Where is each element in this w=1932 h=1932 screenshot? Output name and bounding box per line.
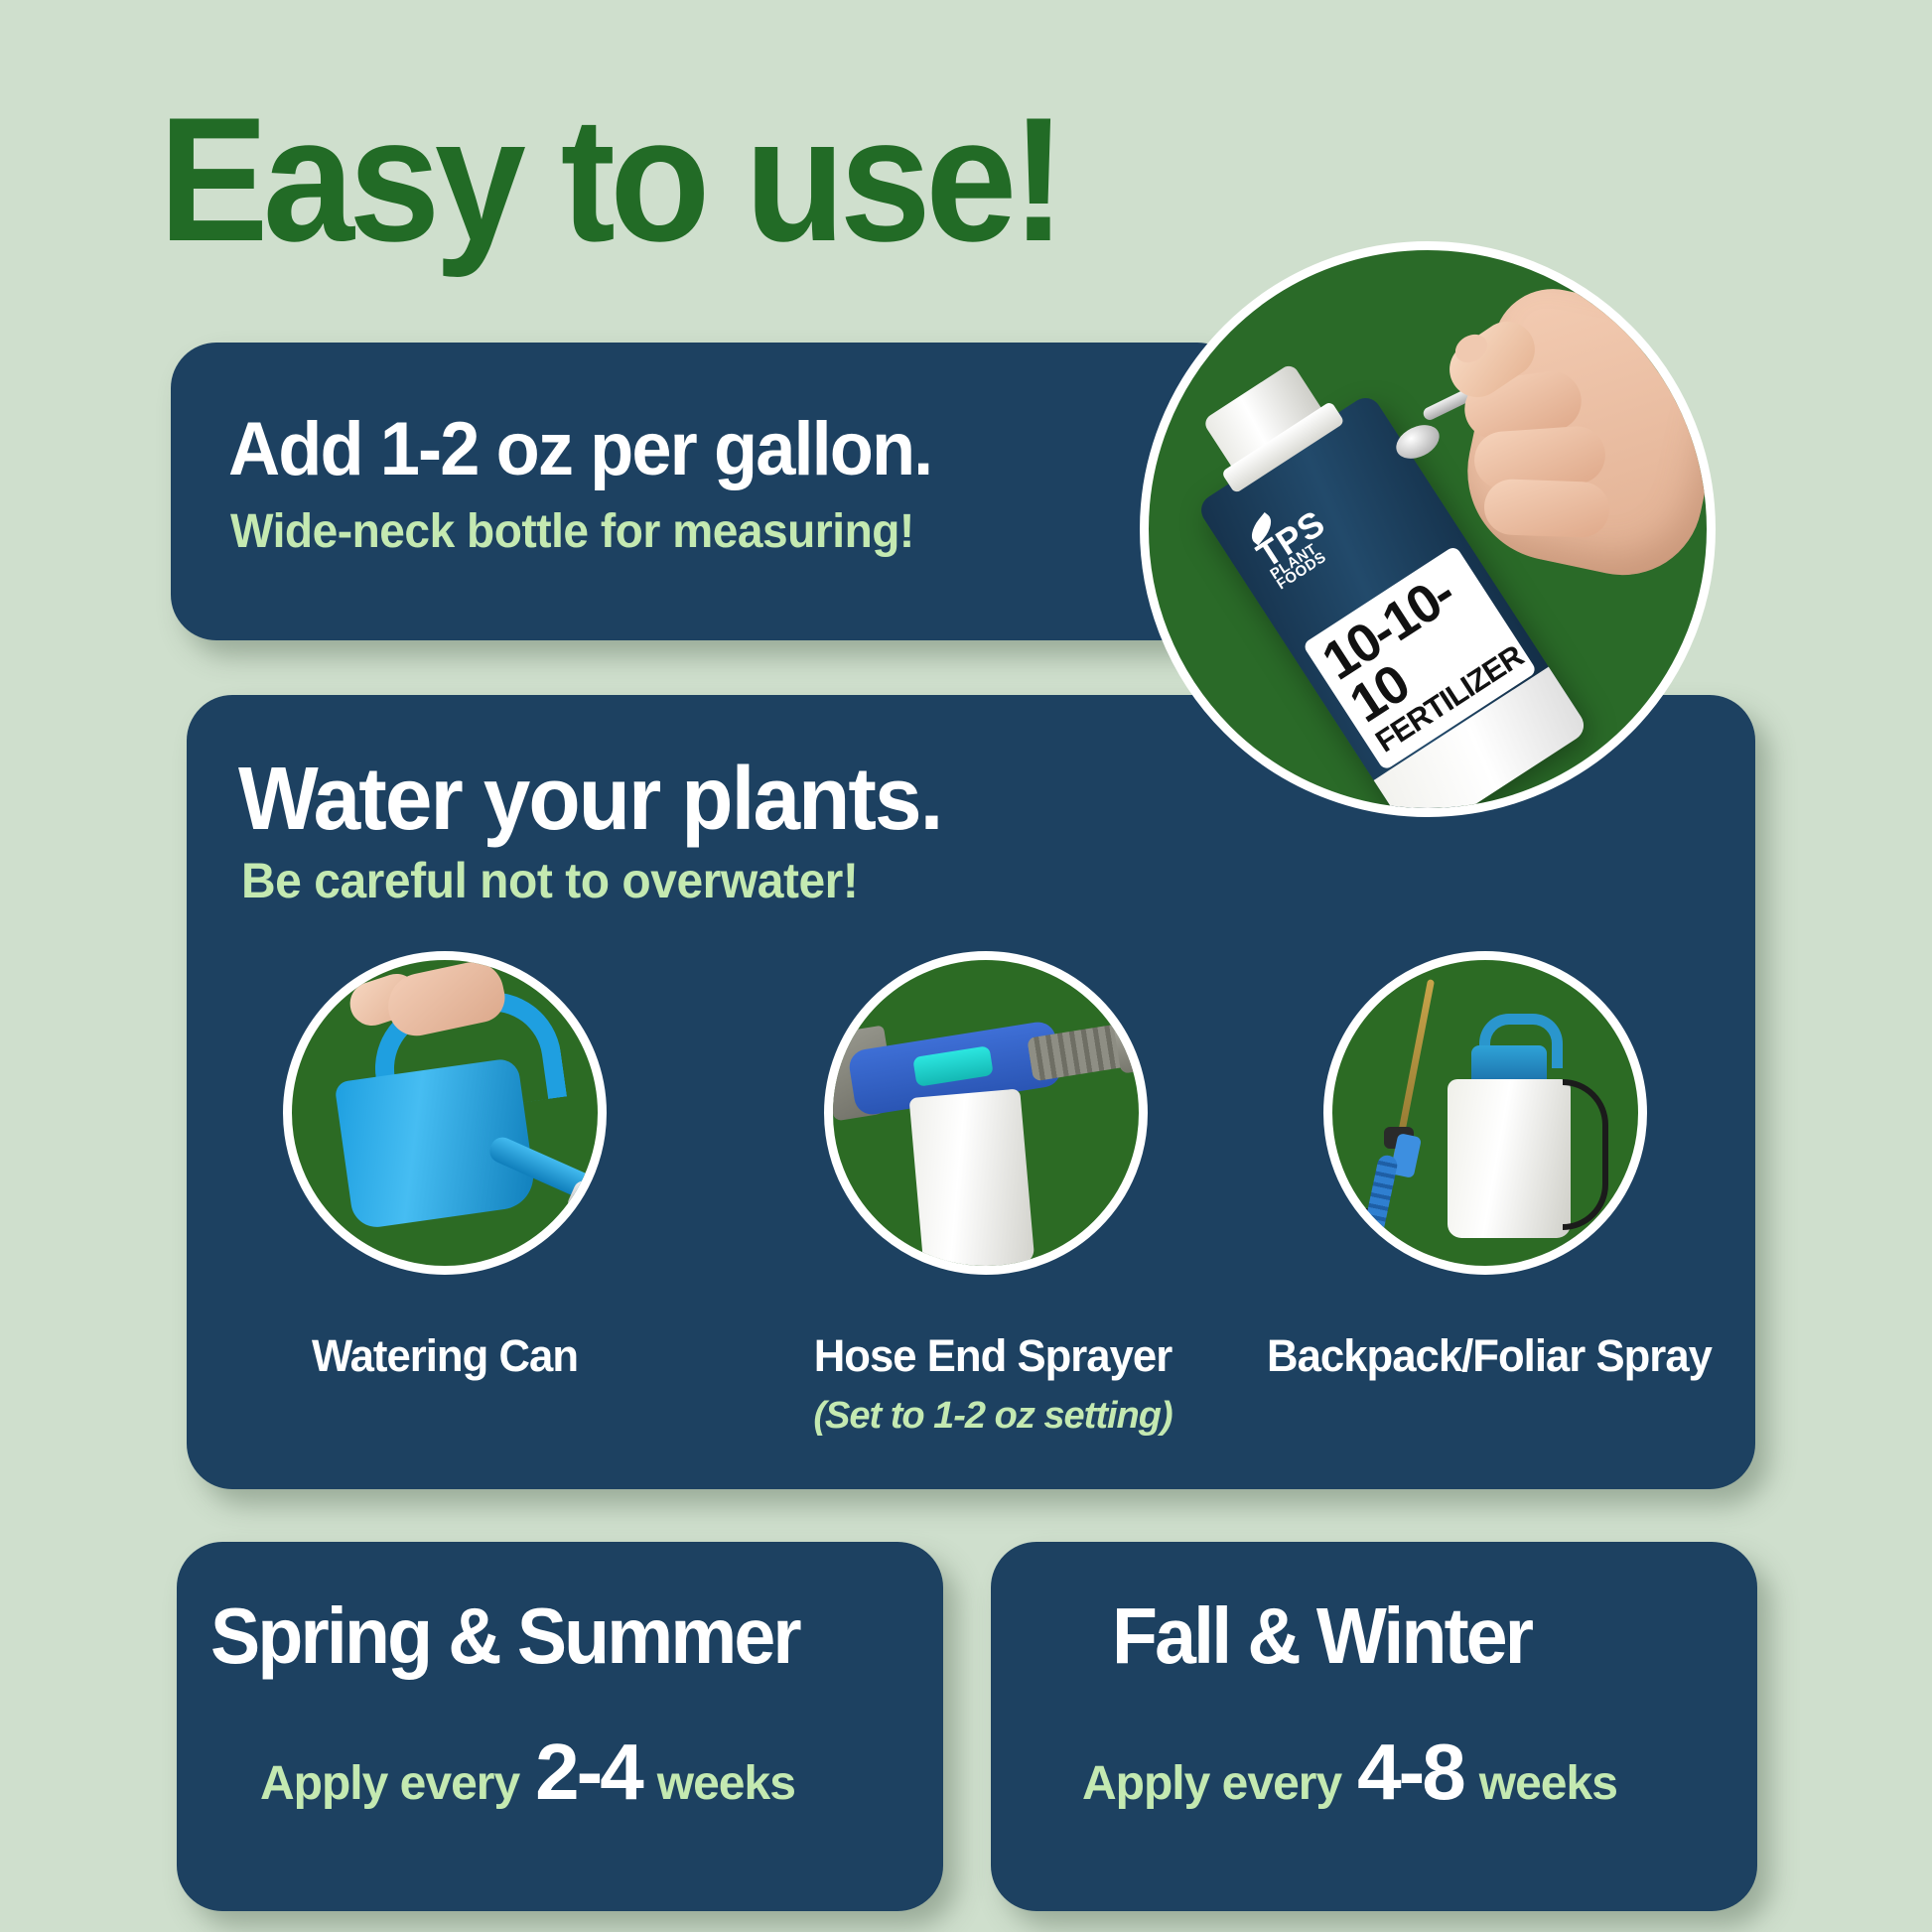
step-water-title: Water your plants. — [238, 755, 942, 844]
method-label-watering-can: Watering Can — [262, 1330, 628, 1382]
page-title: Easy to use! — [159, 91, 1060, 268]
season-prefix-fall: Apply every — [1082, 1756, 1341, 1811]
bottle-photo-circle: TPS PLANT FOODS 10-10-10 FERTILIZER — [1140, 241, 1716, 817]
backpack-hose — [1362, 1208, 1537, 1275]
step-add-title: Add 1-2 oz per gallon. — [228, 412, 931, 487]
step-water-subtitle: Be careful not to overwater! — [241, 856, 858, 905]
method-circle-backpack-sprayer — [1323, 951, 1647, 1275]
season-interval-fall: 4-8 — [1357, 1732, 1463, 1812]
season-frequency-fall-winter: Apply every 4-8 weeks — [1082, 1732, 1617, 1812]
method-circle-hose-end-sprayer — [824, 951, 1148, 1275]
season-prefix-spring: Apply every — [260, 1756, 519, 1811]
method-circle-watering-can — [283, 951, 607, 1275]
season-interval-spring: 2-4 — [535, 1732, 641, 1812]
backpack-strap — [1563, 1079, 1608, 1230]
finger-3 — [1483, 479, 1610, 538]
season-frequency-spring-summer: Apply every 2-4 weeks — [260, 1732, 795, 1812]
season-suffix-spring: weeks — [657, 1756, 795, 1811]
method-label-backpack-spray: Backpack/Foliar Spray — [1219, 1330, 1758, 1382]
step-add-subtitle: Wide-neck bottle for measuring! — [230, 508, 914, 556]
tps-brand-logo: TPS PLANT FOODS — [1253, 460, 1416, 592]
season-suffix-fall: weeks — [1479, 1756, 1617, 1811]
step-card-add — [171, 343, 1243, 640]
season-title-spring-summer: Spring & Summer — [210, 1596, 799, 1676]
sprayer-reservoir-bottle — [909, 1088, 1035, 1272]
infographic-canvas: Easy to use! Add 1-2 oz per gallon. Wide… — [0, 0, 1932, 1932]
method-note-hose-end-sprayer: (Set to 1-2 oz setting) — [774, 1395, 1211, 1438]
season-title-fall-winter: Fall & Winter — [1112, 1596, 1531, 1676]
method-label-hose-end-sprayer: Hose End Sprayer — [781, 1330, 1205, 1382]
